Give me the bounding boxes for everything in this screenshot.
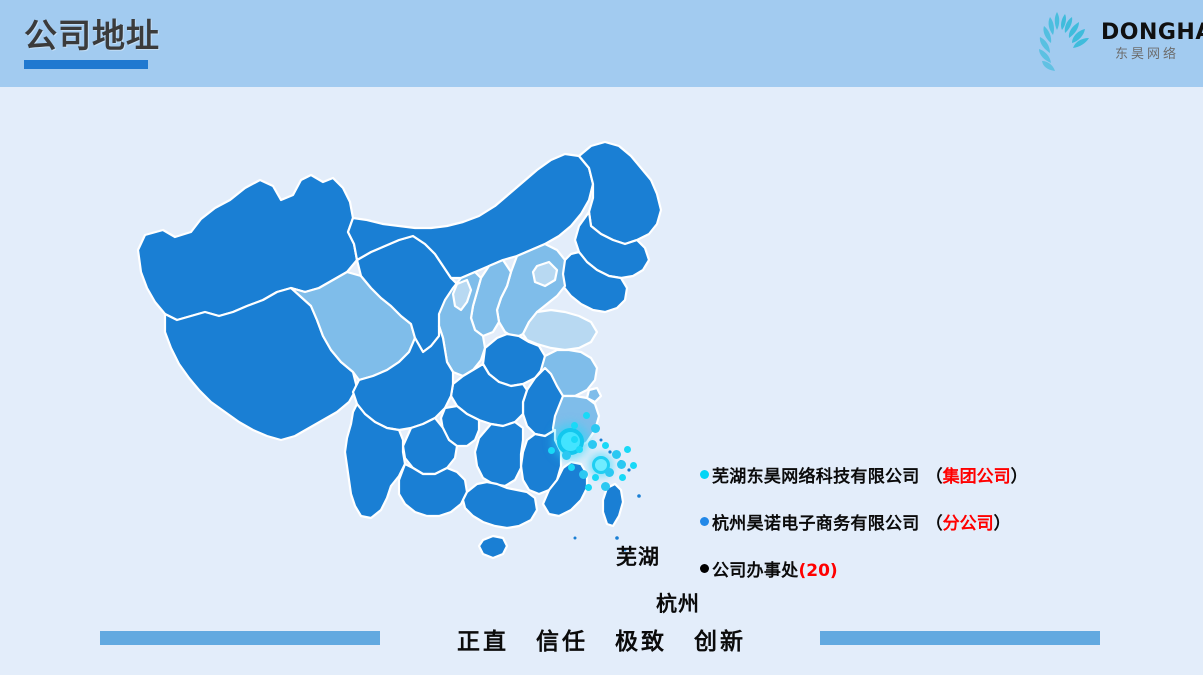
legend-tag-open: （	[926, 467, 943, 487]
province-hunan	[475, 422, 523, 486]
legend: 芜湖东昊网络科技有限公司 （集团公司） 杭州昊诺电子商务有限公司 （分公司） 公…	[700, 462, 1120, 603]
legend-bullet-blue	[700, 517, 709, 526]
legend-tag-text: 分公司	[943, 514, 994, 534]
legend-bullet-cyan	[700, 470, 709, 479]
legend-label: 芜湖东昊网络科技有限公司	[712, 462, 920, 487]
map-marker-office[interactable]	[579, 470, 588, 479]
map-marker-office[interactable]	[583, 412, 590, 419]
china-map-container: 芜湖 杭州	[105, 140, 705, 610]
slogan-word-2: 信任	[536, 629, 588, 655]
map-marker-office[interactable]	[576, 446, 583, 453]
map-marker-office[interactable]	[548, 447, 555, 454]
legend-bullet-black	[700, 564, 709, 573]
map-marker-office[interactable]	[562, 451, 571, 460]
slogan-word-3: 极致	[615, 629, 667, 655]
city-label-hangzhou: 杭州	[656, 588, 700, 618]
logo-subtitle: 东昊网络	[1101, 46, 1193, 64]
legend-tag: （分公司）	[926, 509, 1011, 534]
legend-tag-close: ）	[994, 514, 1011, 534]
map-marker-office[interactable]	[630, 462, 637, 469]
map-marker-office[interactable]	[605, 468, 614, 477]
legend-tag: （集团公司）	[926, 462, 1028, 487]
map-marker-office[interactable]	[571, 422, 578, 429]
legend-item-branch-company[interactable]: 杭州昊诺电子商务有限公司 （分公司）	[700, 509, 1120, 534]
footer-slogan: 正直 信任 极致 创新	[0, 622, 1203, 656]
legend-tag-close: ）	[1011, 467, 1028, 487]
map-marker-office[interactable]	[624, 446, 631, 453]
map-marker-office[interactable]	[602, 442, 609, 449]
legend-tag: (20)	[799, 561, 838, 581]
map-marker-office[interactable]	[617, 460, 626, 469]
company-logo: DONGHAO 东昊网络	[1031, 6, 1191, 78]
legend-tag-open: （	[926, 514, 943, 534]
legend-item-group-company[interactable]: 芜湖东昊网络科技有限公司 （集团公司）	[700, 462, 1120, 487]
legend-label: 杭州昊诺电子商务有限公司	[712, 509, 920, 534]
legend-item-offices[interactable]: 公司办事处 (20)	[700, 556, 1120, 581]
slogan-word-4: 创新	[694, 629, 746, 655]
feather-wing-icon	[1031, 8, 1101, 76]
page-title: 公司地址	[24, 16, 160, 56]
map-marker-office[interactable]	[619, 474, 626, 481]
map-marker-office[interactable]	[591, 424, 600, 433]
logo-name: DONGHAO	[1101, 20, 1193, 46]
map-marker-office[interactable]	[601, 482, 610, 491]
map-marker-office[interactable]	[592, 474, 599, 481]
china-map-graphic	[105, 140, 705, 610]
slide-header: 公司地址 DONGHAO	[0, 0, 1203, 87]
city-label-wuhu: 芜湖	[616, 541, 660, 571]
province-hainan	[479, 536, 507, 558]
map-marker-office[interactable]	[571, 436, 578, 443]
slogan-word-1: 正直	[457, 629, 509, 655]
map-marker-office[interactable]	[585, 484, 592, 491]
map-marker-office[interactable]	[568, 464, 575, 471]
legend-label: 公司办事处	[712, 556, 799, 581]
map-marker-office[interactable]	[588, 440, 597, 449]
legend-tag-text: 集团公司	[943, 467, 1011, 487]
legend-tag-text: (20)	[799, 561, 838, 581]
title-underline-bar	[24, 60, 148, 69]
logo-text-block: DONGHAO 东昊网络	[1101, 20, 1193, 64]
province-guangdong	[463, 482, 537, 528]
map-marker-office[interactable]	[612, 450, 621, 459]
